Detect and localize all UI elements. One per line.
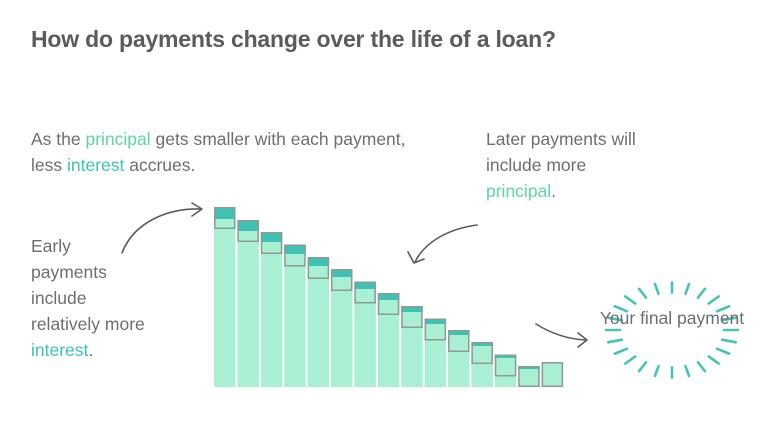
bar-principal bbox=[401, 306, 423, 387]
payment-box-outline bbox=[402, 307, 422, 328]
bar-interest bbox=[471, 342, 493, 346]
arrow-final-payment bbox=[536, 324, 585, 340]
bar-interest bbox=[354, 282, 376, 290]
keyword-interest: interest bbox=[67, 155, 124, 175]
arrow-final-payment-head bbox=[578, 333, 587, 347]
final-payment-callout: Your final payment bbox=[592, 272, 752, 388]
bar-interest bbox=[308, 257, 330, 266]
annotation-left-seg1: Early payments include relatively more bbox=[31, 236, 145, 334]
annotation-right: Later payments will include more princip… bbox=[486, 126, 636, 204]
keyword-principal: principal bbox=[85, 129, 150, 149]
payment-box-outline bbox=[215, 208, 235, 229]
payment-box-outline bbox=[472, 343, 492, 364]
bar-interest bbox=[284, 245, 306, 255]
arrow-early-payments-head bbox=[192, 203, 202, 216]
bar-interest bbox=[425, 319, 447, 325]
bar-principal bbox=[471, 342, 493, 387]
payment-box-outline bbox=[379, 294, 399, 315]
bar-principal bbox=[331, 269, 353, 387]
bar-interest bbox=[401, 306, 423, 312]
page-title: How do payments change over the life of … bbox=[31, 26, 556, 53]
payment-box-outline bbox=[238, 221, 258, 242]
bar-principal bbox=[237, 220, 259, 387]
annotation-left: Early payments include relatively more i… bbox=[31, 233, 146, 363]
bar-principal bbox=[448, 330, 470, 387]
bar-principal bbox=[284, 245, 306, 388]
bar-interest bbox=[214, 207, 236, 219]
arrow-group bbox=[122, 203, 587, 347]
payment-box-outline bbox=[355, 282, 375, 303]
bar-principal bbox=[354, 282, 376, 388]
payment-box-outline bbox=[332, 270, 352, 291]
annotation-top: As the principal gets smaller with each … bbox=[31, 126, 431, 178]
bar-principal bbox=[542, 362, 564, 387]
annotation-top-seg3: accrues. bbox=[124, 155, 195, 175]
payment-box-outline bbox=[496, 355, 516, 376]
payment-box-outline bbox=[519, 367, 539, 387]
bar-principal bbox=[308, 257, 330, 387]
annotation-top-seg1: As the bbox=[31, 129, 85, 149]
bar-group bbox=[214, 207, 563, 387]
infographic-root: How do payments change over the life of … bbox=[0, 0, 768, 421]
bar-interest bbox=[237, 220, 259, 231]
payment-box-outline bbox=[285, 245, 305, 266]
arrow-later-payments-head bbox=[408, 252, 424, 263]
bar-interest bbox=[261, 232, 283, 242]
bar-interest bbox=[518, 366, 540, 369]
payment-box-outline bbox=[542, 363, 562, 387]
bar-principal bbox=[378, 293, 400, 387]
bar-principal bbox=[518, 366, 540, 387]
bar-principal bbox=[261, 232, 283, 387]
bar-principal bbox=[495, 355, 517, 388]
bar-interest bbox=[378, 293, 400, 300]
payment-box-outline bbox=[425, 319, 445, 340]
annotation-left-seg2: . bbox=[88, 340, 93, 360]
payment-box-outline bbox=[262, 233, 282, 254]
bar-interest bbox=[331, 269, 353, 277]
bar-interest bbox=[495, 355, 517, 359]
bar-principal bbox=[425, 319, 447, 388]
bar-principal bbox=[214, 207, 236, 387]
keyword-interest: interest bbox=[31, 340, 88, 360]
final-payment-label: Your final payment bbox=[592, 306, 752, 330]
annotation-right-seg1: Later payments will include more bbox=[486, 129, 636, 175]
bar-interest bbox=[448, 330, 470, 335]
payment-box-outline bbox=[449, 331, 469, 352]
payment-box-outline bbox=[308, 258, 328, 279]
keyword-principal: principal bbox=[486, 181, 551, 201]
annotation-right-seg2: . bbox=[551, 181, 556, 201]
arrow-later-payments bbox=[415, 225, 477, 262]
